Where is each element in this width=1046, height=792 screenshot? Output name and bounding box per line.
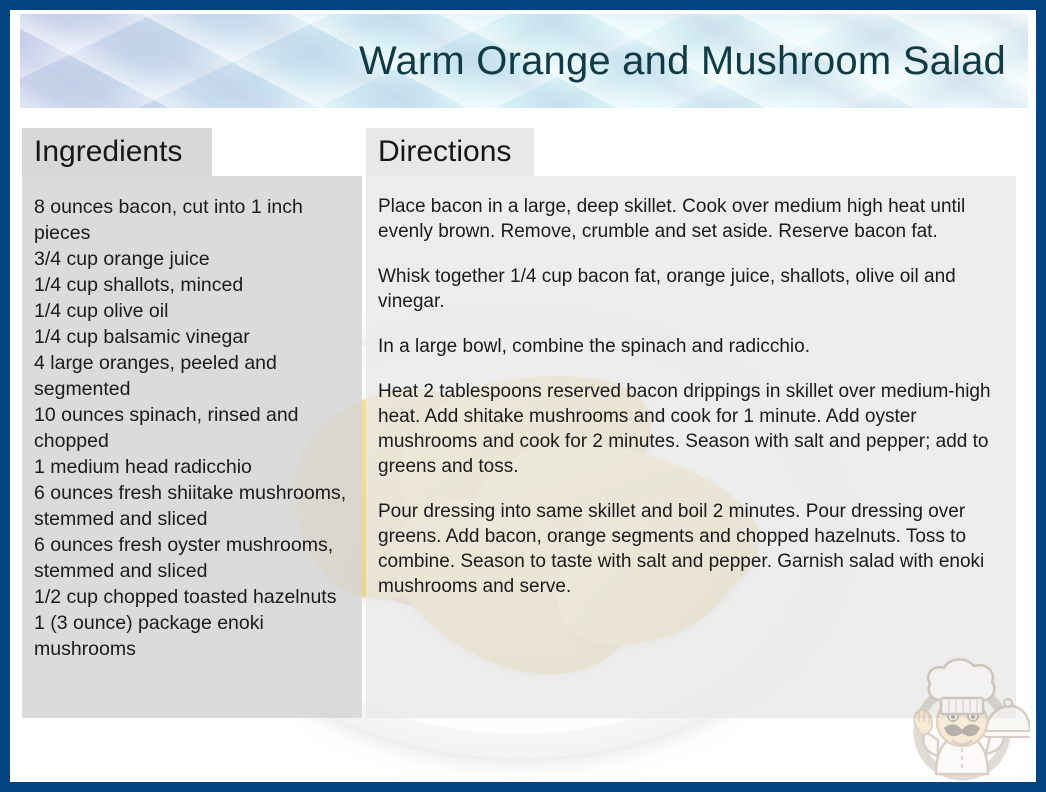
ingredients-panel: 8 ounces bacon, cut into 1 inch pieces 3… xyxy=(22,176,362,718)
directions-header: Directions xyxy=(366,128,534,176)
ingredients-header: Ingredients xyxy=(22,128,212,176)
directions-heading-label: Directions xyxy=(378,137,511,167)
list-item: 10 ounces spinach, rinsed and chopped xyxy=(34,402,348,454)
directions-column: Directions Place bacon in a large, deep … xyxy=(366,128,1016,718)
list-item: 8 ounces bacon, cut into 1 inch pieces xyxy=(34,194,348,246)
list-item: 1/4 cup balsamic vinegar xyxy=(34,324,348,350)
list-item: 6 ounces fresh oyster mushrooms, stemmed… xyxy=(34,532,348,584)
list-item: 3/4 cup orange juice xyxy=(34,246,348,272)
direction-step: Pour dressing into same skillet and boil… xyxy=(378,499,1002,599)
ingredients-list: 8 ounces bacon, cut into 1 inch pieces 3… xyxy=(34,194,348,662)
direction-step: Place bacon in a large, deep skillet. Co… xyxy=(378,194,1002,244)
direction-step: Whisk together 1/4 cup bacon fat, orange… xyxy=(378,264,1002,314)
list-item: 1 (3 ounce) package enoki mushrooms xyxy=(34,610,348,662)
title-banner: Warm Orange and Mushroom Salad xyxy=(20,14,1028,108)
page-title: Warm Orange and Mushroom Salad xyxy=(359,39,1006,84)
ingredients-heading-label: Ingredients xyxy=(34,137,182,167)
list-item: 4 large oranges, peeled and segmented xyxy=(34,350,348,402)
list-item: 1 medium head radicchio xyxy=(34,454,348,480)
ingredients-column: Ingredients 8 ounces bacon, cut into 1 i… xyxy=(22,128,362,718)
direction-step: Heat 2 tablespoons reserved bacon drippi… xyxy=(378,379,1002,479)
recipe-card: Warm Orange and Mushroom Salad Ingredien… xyxy=(0,0,1046,792)
list-item: 1/2 cup chopped toasted hazelnuts xyxy=(34,584,348,610)
directions-panel: Place bacon in a large, deep skillet. Co… xyxy=(366,176,1016,718)
card-page: Warm Orange and Mushroom Salad Ingredien… xyxy=(10,10,1036,782)
list-item: 6 ounces fresh shiitake mushrooms, stemm… xyxy=(34,480,348,532)
list-item: 1/4 cup shallots, minced xyxy=(34,272,348,298)
direction-step: In a large bowl, combine the spinach and… xyxy=(378,334,1002,359)
list-item: 1/4 cup olive oil xyxy=(34,298,348,324)
